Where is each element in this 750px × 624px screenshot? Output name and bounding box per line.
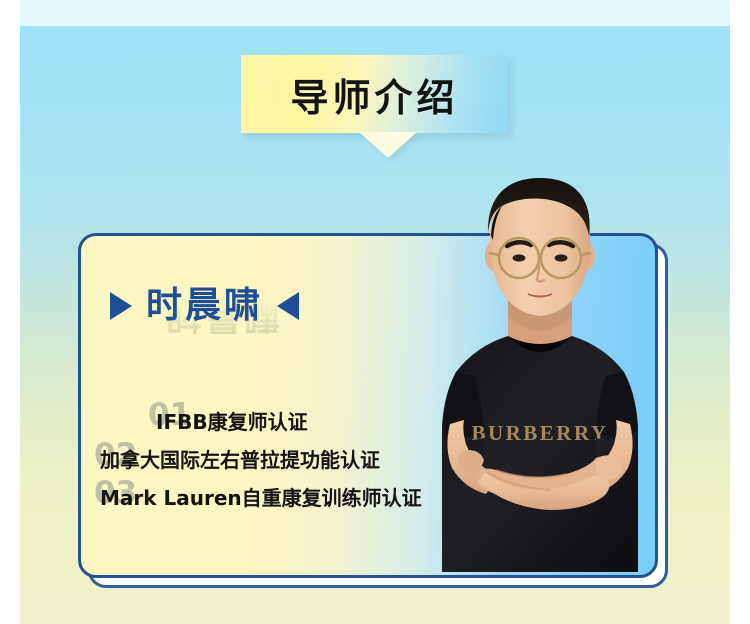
instructor-photo: BURBERRY — [390, 176, 690, 572]
promo-page: 导师介绍 时晨啸 时晨啸 01 IFBB康复师认证 02 加拿大国际左右普拉提功… — [0, 0, 750, 624]
instructor-name-row: 时晨啸 — [110, 288, 299, 324]
credential-label: 加拿大国际左右普拉提功能认证 — [100, 448, 380, 473]
shirt-brand-text: BURBERRY — [471, 421, 608, 445]
instructor-name: 时晨啸 — [146, 288, 263, 324]
background-top-strip — [20, 0, 730, 26]
portrait-illustration: BURBERRY — [390, 176, 690, 572]
section-header-banner: 导师介绍 — [241, 55, 508, 159]
page-title: 导师介绍 — [241, 55, 508, 133]
credential-label: Mark Lauren自重康复训练师认证 — [100, 486, 422, 511]
banner-pointer-icon — [359, 132, 417, 158]
triangle-left-icon — [277, 292, 299, 320]
credential-label: IFBB康复师认证 — [156, 410, 308, 435]
triangle-right-icon — [110, 292, 132, 320]
